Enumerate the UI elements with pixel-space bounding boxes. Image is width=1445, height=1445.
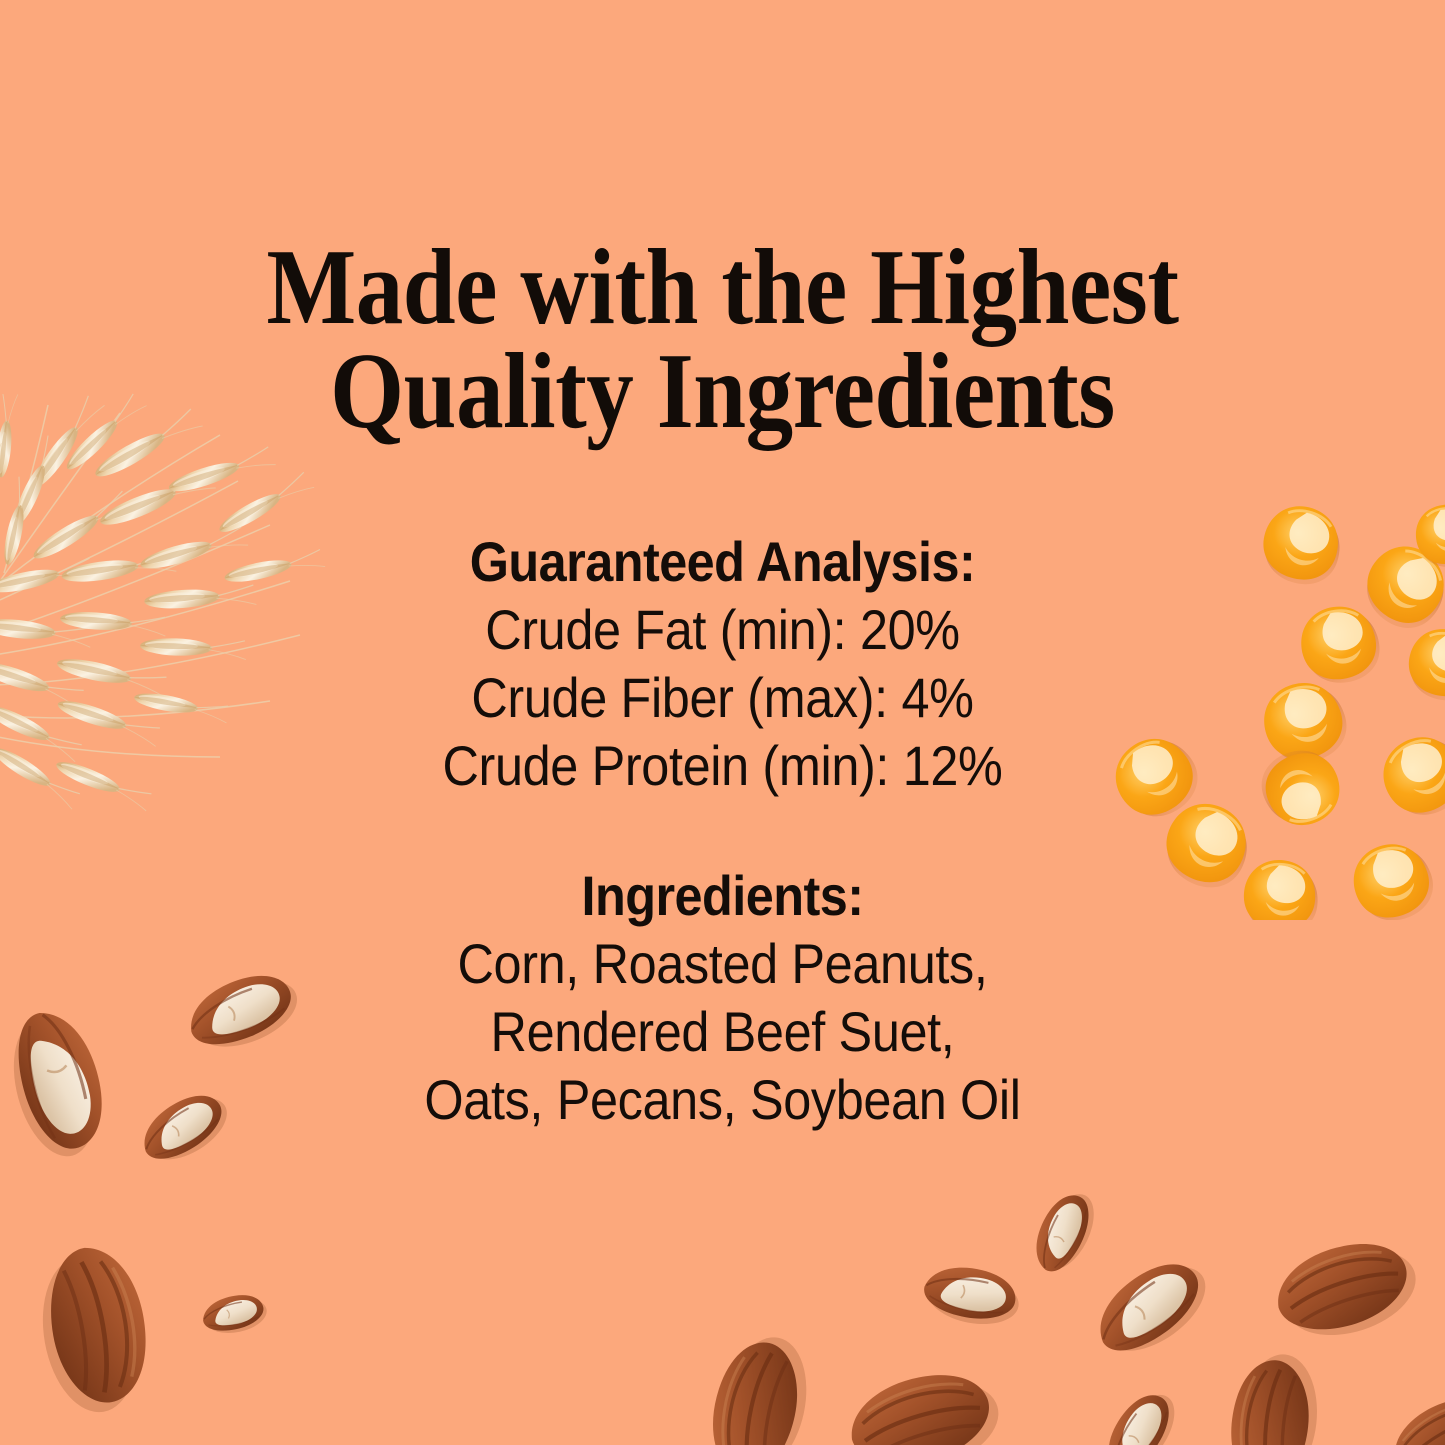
page-title-line-1: Made with the Highest xyxy=(87,236,1359,340)
ingredients-line-2: Rendered Beef Suet, xyxy=(72,998,1373,1066)
ingredients-block: Ingredients: Corn, Roasted Peanuts, Rend… xyxy=(0,862,1445,1134)
guaranteed-analysis-block: Guaranteed Analysis: Crude Fat (min): 20… xyxy=(0,528,1445,800)
ingredients-line-3: Oats, Pecans, Soybean Oil xyxy=(72,1066,1373,1134)
ingredients-line-1: Corn, Roasted Peanuts, xyxy=(72,930,1373,998)
guaranteed-analysis-row-crude-fat: Crude Fat (min): 20% xyxy=(72,596,1373,664)
guaranteed-analysis-row-crude-fiber: Crude Fiber (max): 4% xyxy=(72,664,1373,732)
ingredients-heading: Ingredients: xyxy=(72,862,1373,930)
guaranteed-analysis-row-crude-protein: Crude Protein (min): 12% xyxy=(72,732,1373,800)
pecan-halves-bottom-left-decoration xyxy=(0,1225,350,1445)
page-title: Made with the Highest Quality Ingredient… xyxy=(87,236,1359,444)
pecan-halves-bottom-center-decoration xyxy=(590,1300,1010,1445)
ingredient-panel: Made with the Highest Quality Ingredient… xyxy=(0,0,1445,1445)
page-title-line-2: Quality Ingredients xyxy=(87,340,1359,444)
pecan-halves-bottom-right-decoration xyxy=(890,1175,1445,1445)
guaranteed-analysis-heading: Guaranteed Analysis: xyxy=(72,528,1373,596)
